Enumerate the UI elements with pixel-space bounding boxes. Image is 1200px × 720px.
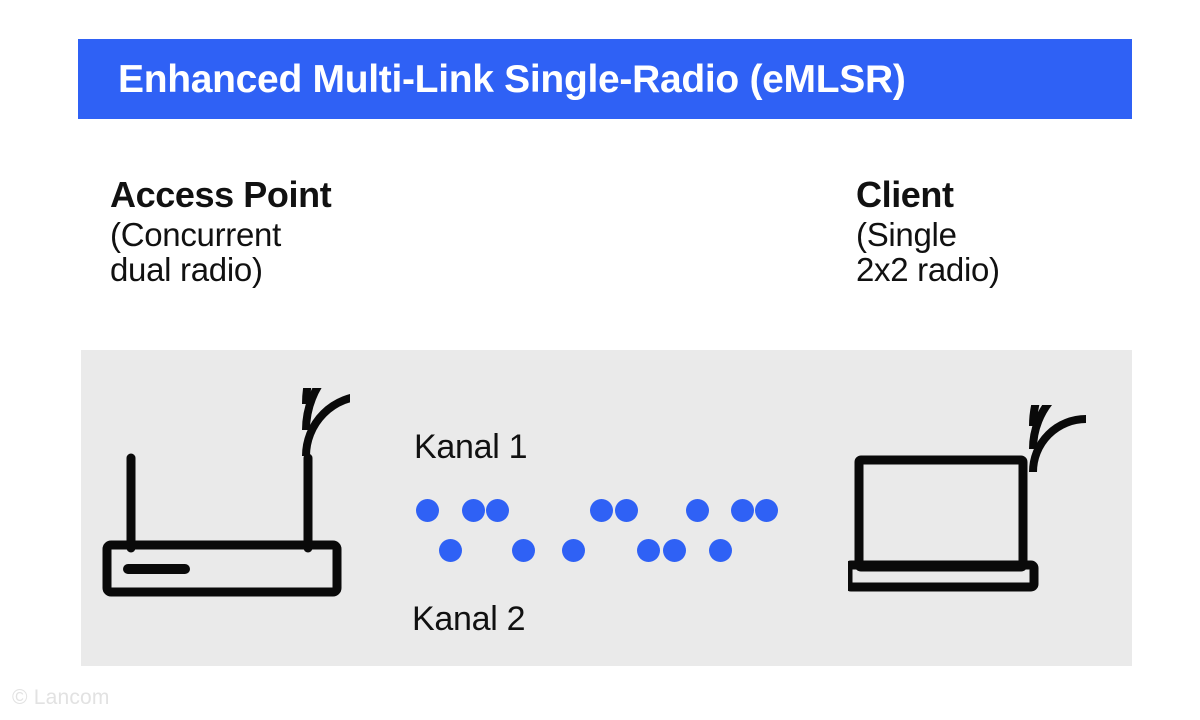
traffic-dot: [637, 539, 660, 562]
traffic-dot: [512, 539, 535, 562]
router-icon: [100, 388, 350, 598]
access-point-heading: Access Point (Concurrent dual radio): [110, 176, 331, 288]
access-point-title: Access Point: [110, 176, 331, 214]
traffic-dot: [615, 499, 638, 522]
router-glyph: [100, 388, 350, 598]
laptop-screen: [859, 460, 1023, 567]
traffic-dot: [462, 499, 485, 522]
laptop-glyph: [848, 405, 1098, 595]
page-title: Enhanced Multi-Link Single-Radio (eMLSR): [118, 60, 906, 99]
channel-1-label: Kanal 1: [414, 428, 527, 467]
traffic-dot: [439, 539, 462, 562]
laptop-base: [848, 565, 1034, 587]
traffic-dot: [755, 499, 778, 522]
client-heading: Client (Single 2x2 radio): [856, 176, 1000, 288]
traffic-dot: [416, 499, 439, 522]
traffic-dot: [590, 499, 613, 522]
wifi-signal-icon: [306, 388, 350, 456]
traffic-dot: [486, 499, 509, 522]
copyright-notice: © Lancom: [12, 686, 110, 710]
traffic-dot: [562, 539, 585, 562]
traffic-dot: [709, 539, 732, 562]
client-title: Client: [856, 176, 1000, 214]
access-point-subtitle: (Concurrent dual radio): [110, 218, 331, 288]
traffic-dot: [663, 539, 686, 562]
laptop-icon: [848, 405, 1098, 595]
title-banner: Enhanced Multi-Link Single-Radio (eMLSR): [78, 39, 1132, 119]
traffic-dot: [686, 499, 709, 522]
traffic-dot-field: [400, 490, 800, 590]
client-subtitle: (Single 2x2 radio): [856, 218, 1000, 288]
channel-2-label: Kanal 2: [412, 600, 525, 639]
traffic-dot: [731, 499, 754, 522]
wifi-signal-icon: [1033, 405, 1098, 472]
